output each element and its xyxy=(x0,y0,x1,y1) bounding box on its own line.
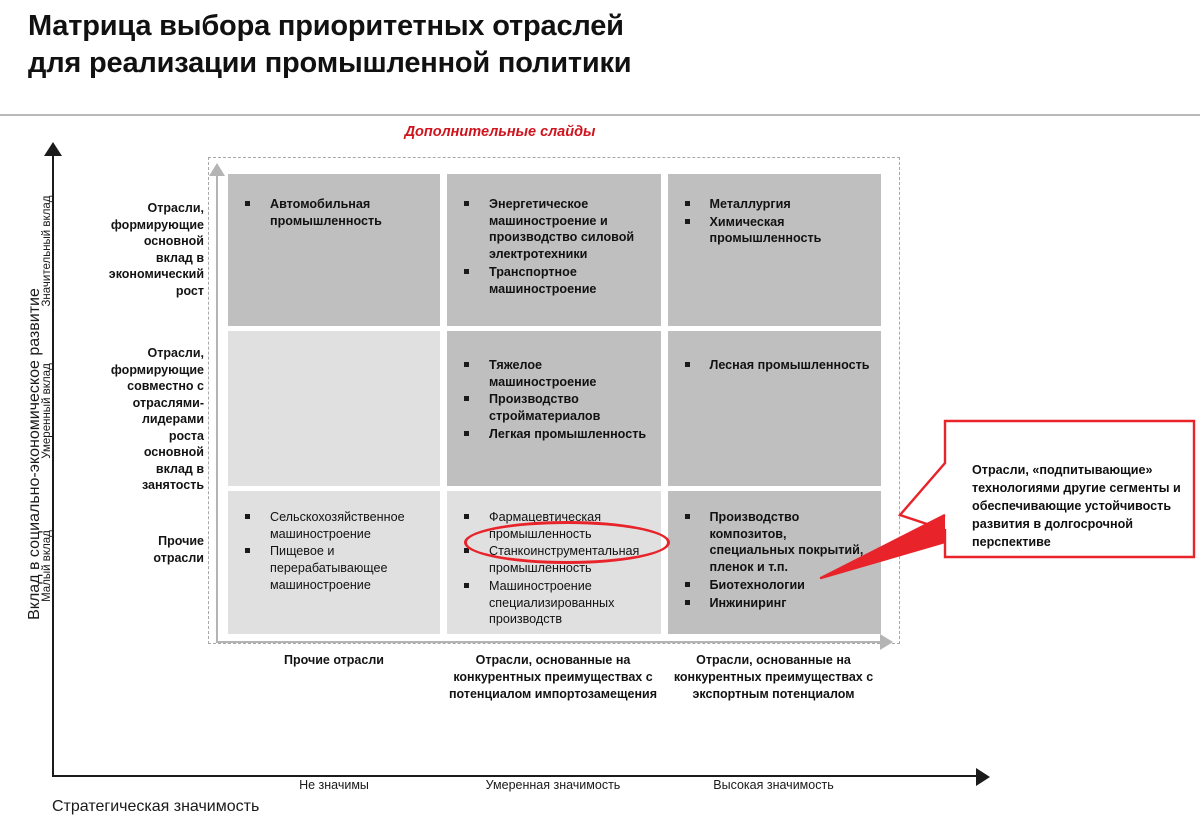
header-divider xyxy=(0,114,1200,116)
inner-x-axis-line xyxy=(216,641,884,643)
matrix-cell-r2c2[interactable]: Производство композитов, специальных пок… xyxy=(668,491,882,634)
x-axis-line xyxy=(52,775,982,777)
x-tick-label-high: Высокая значимость xyxy=(666,778,881,792)
priority-matrix: Автомобильная промышленность Энергетичес… xyxy=(228,174,881,634)
column-caption-other: Прочие отрасли xyxy=(228,652,440,669)
matrix-cell-list: Фармацевтическая промышленность Станкоин… xyxy=(461,509,651,628)
row-description-employment: Отрасли, формирующие совместно с отрасля… xyxy=(108,345,204,494)
list-item: Автомобильная промышленность xyxy=(242,196,430,229)
list-item: Пищевое и перерабатывающее машиностроени… xyxy=(242,543,430,593)
matrix-cell-list: Тяжелое машиностроение Производство стро… xyxy=(461,357,651,443)
x-axis-title: Стратегическая значимость xyxy=(52,798,259,816)
list-item: Производство стройматериалов xyxy=(461,391,651,424)
matrix-cell-r1c2[interactable]: Лесная промышленность xyxy=(668,331,882,486)
matrix-cell-r2c0[interactable]: Сельскохозяйственное машиностроение Пище… xyxy=(228,491,440,634)
matrix-cell-r1c1[interactable]: Тяжелое машиностроение Производство стро… xyxy=(447,331,661,486)
row-description-growth: Отрасли, формирующие основной вклад в эк… xyxy=(108,200,204,299)
matrix-cell-r0c1[interactable]: Энергетическое машиностроение и производ… xyxy=(447,174,661,326)
page-title: Матрица выбора приоритетных отраслей для… xyxy=(28,8,928,82)
matrix-cell-list: Сельскохозяйственное машиностроение Пище… xyxy=(242,509,430,594)
list-item: Легкая промышленность xyxy=(461,426,651,443)
x-tick-label-not-significant: Не значимы xyxy=(228,778,440,792)
inner-y-axis-arrow-icon xyxy=(209,163,225,176)
matrix-cell-list: Энергетическое машиностроение и производ… xyxy=(461,196,651,297)
list-item: Производство композитов, специальных пок… xyxy=(682,509,872,576)
column-caption-import-substitution: Отрасли, основанные на конкурентных преи… xyxy=(447,652,659,703)
list-item: Металлургия xyxy=(682,196,872,213)
list-item: Энергетическое машиностроение и производ… xyxy=(461,196,651,263)
matrix-cell-r2c1[interactable]: Фармацевтическая промышленность Станкоин… xyxy=(447,491,661,634)
inner-y-axis-line xyxy=(216,175,218,643)
matrix-cell-r0c0[interactable]: Автомобильная промышленность xyxy=(228,174,440,326)
matrix-cell-r1c0[interactable] xyxy=(228,331,440,486)
y-tick-label-moderate: Умеренный вклад xyxy=(41,326,53,496)
y-tick-label-significant: Значительный вклад xyxy=(41,166,53,336)
y-axis-arrow-icon xyxy=(44,142,62,156)
column-caption-export-potential: Отрасли, основанные на конкурентных преи… xyxy=(666,652,881,703)
list-item: Фармацевтическая промышленность xyxy=(461,509,651,542)
x-tick-label-moderate: Умеренная значимость xyxy=(447,778,659,792)
matrix-cell-list: Металлургия Химическая промышленность xyxy=(682,196,872,247)
y-tick-label-small: Малый вклад xyxy=(41,481,53,651)
matrix-cell-list: Производство композитов, специальных пок… xyxy=(682,509,872,611)
row-description-other: Прочие отрасли xyxy=(108,533,204,566)
subtitle-additional-slides: Дополнительные слайды xyxy=(0,124,1000,140)
x-axis-arrow-icon xyxy=(976,768,990,786)
list-item: Лесная промышленность xyxy=(682,357,872,374)
matrix-cell-r0c2[interactable]: Металлургия Химическая промышленность xyxy=(668,174,882,326)
matrix-cell-list: Автомобильная промышленность xyxy=(242,196,430,229)
callout-text: Отрасли, «подпитывающие» технологиями др… xyxy=(972,462,1188,551)
list-item: Сельскохозяйственное машиностроение xyxy=(242,509,430,542)
list-item: Инжиниринг xyxy=(682,595,872,612)
matrix-cell-list: Лесная промышленность xyxy=(682,357,872,374)
list-item: Машиностроение специализированных произв… xyxy=(461,578,651,628)
list-item-highlighted: Станкоинструментальная промышленность xyxy=(461,543,651,576)
list-item: Биотехнологии xyxy=(682,577,872,594)
inner-x-axis-arrow-icon xyxy=(880,634,893,650)
list-item: Тяжелое машиностроение xyxy=(461,357,651,390)
list-item: Транспортное машиностроение xyxy=(461,264,651,297)
list-item: Химическая промышленность xyxy=(682,214,872,247)
